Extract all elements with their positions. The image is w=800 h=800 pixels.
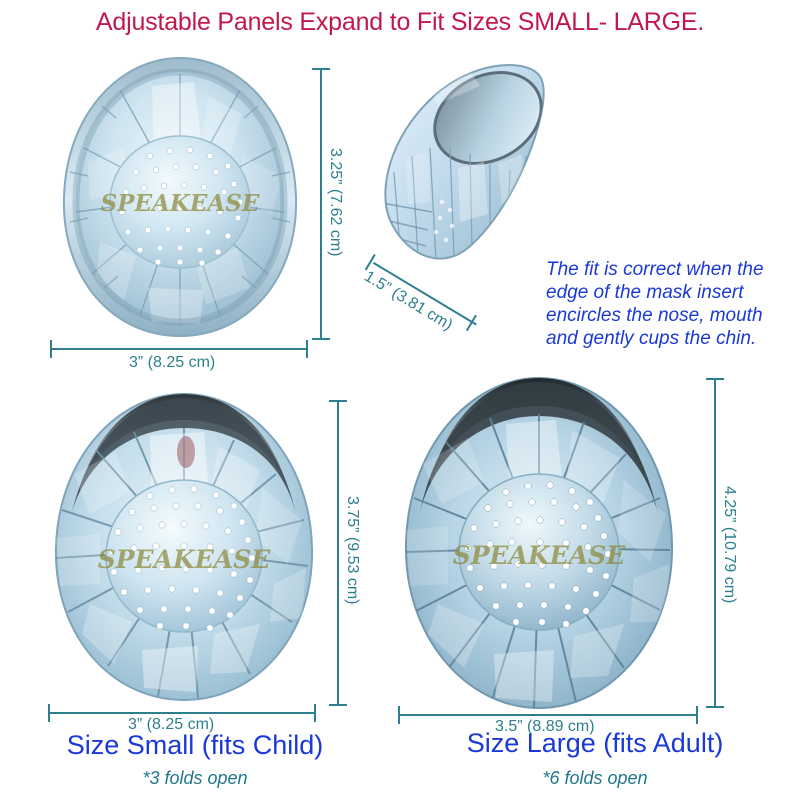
dimension-line-small-front-height — [320, 68, 322, 340]
dimension-cap-bottom — [706, 706, 724, 708]
dimension-cap-right — [696, 706, 698, 724]
dimension-label-small-open-height: 3.75” (9.53 cm) — [343, 496, 361, 604]
fit-note-line-1: The fit is correct when the — [546, 258, 798, 281]
dimension-line-small-open-height — [337, 400, 339, 706]
dimension-line-large-open-height — [714, 378, 716, 708]
fit-note-line-4: and gently cups the chin. — [546, 327, 798, 350]
product-image-side-view — [372, 52, 552, 276]
dimension-line-small-front-width — [50, 348, 308, 350]
dimension-cap-left — [48, 704, 50, 722]
size-small-folds-note: *3 folds open — [0, 768, 390, 789]
dimension-label-small-front-width: 3” (8.25 cm) — [129, 354, 215, 372]
dimension-cap-top — [706, 378, 724, 380]
dimension-label-side-depth: 1.5” (3.81 cm) — [361, 268, 456, 335]
dimension-cap-top — [312, 68, 330, 70]
fit-note-line-2: edge of the mask insert — [546, 281, 798, 304]
dimension-label-large-open-height: 4.25” (10.79 cm) — [720, 486, 738, 603]
product-image-small-open: SPEAKEASE — [38, 388, 330, 708]
dimension-cap-left — [398, 706, 400, 724]
size-small-title: Size Small (fits Child) — [0, 730, 390, 761]
product-image-large-open: SPEAKEASE — [388, 372, 690, 716]
watermark-text: SPEAKEASE — [101, 190, 260, 217]
dimension-line-large-open-width — [398, 714, 698, 716]
size-large-title: Size Large (fits Adult) — [400, 728, 790, 759]
dimension-cap-left — [50, 340, 52, 358]
page-title: Adjustable Panels Expand to Fit Sizes SM… — [0, 8, 800, 37]
product-image-small-front: SPEAKEASE — [44, 52, 316, 344]
dimension-label-small-front-height: 3.25” (7.62 cm) — [326, 148, 344, 256]
size-large-folds-note: *6 folds open — [400, 768, 790, 789]
watermark-text: SPEAKEASE — [453, 541, 627, 570]
dimension-cap-top — [329, 400, 347, 402]
fit-note-line-3: encircles the nose, mouth — [546, 304, 798, 327]
fit-instruction-note: The fit is correct when the edge of the … — [546, 258, 798, 350]
dimension-cap-right — [306, 340, 308, 358]
infographic-canvas: Adjustable Panels Expand to Fit Sizes SM… — [0, 0, 800, 800]
dimension-cap-bottom — [329, 704, 347, 706]
dimension-cap-bottom — [312, 338, 330, 340]
watermark-text: SPEAKEASE — [98, 545, 272, 574]
dimension-cap-right — [314, 704, 316, 722]
dimension-line-small-open-width — [48, 712, 316, 714]
